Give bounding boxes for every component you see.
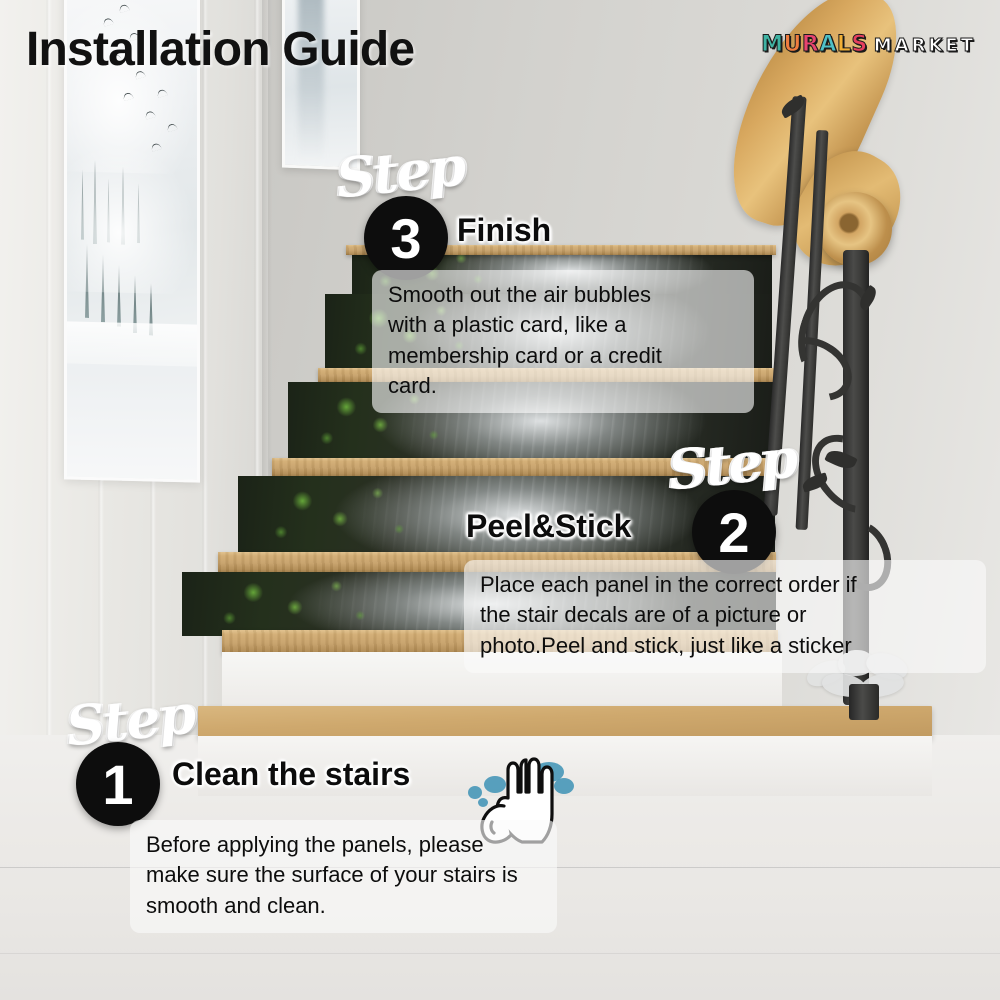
step-3-body: Smooth out the air bubbles with a plasti… [372, 270, 754, 413]
newel-post-foot [849, 684, 879, 720]
brand-logo[interactable]: MURALS MARKET [761, 32, 976, 57]
logo-letter-l: L [837, 32, 852, 57]
step-2-line-1: Place each panel in the correct order if [480, 570, 970, 600]
logo-letter-r: R [802, 32, 819, 57]
step-1-heading: Clean the stairs [172, 756, 410, 793]
step-1-badge: 1 [76, 742, 160, 826]
step-2-line-2: the stair decals are of a picture or [480, 600, 970, 630]
logo-market-word: MARKET [874, 35, 976, 56]
step-3-heading: Finish [457, 212, 551, 249]
stair-tread-bottom [198, 706, 932, 738]
page-title: Installation Guide [26, 22, 414, 77]
logo-murals-word: MURALS [761, 32, 868, 57]
step-3-line-4: card. [388, 371, 738, 401]
logo-letter-m: M [761, 32, 783, 57]
step-1-line-1: Before applying the panels, [146, 832, 413, 857]
installation-guide-page: Installation Guide MURALS MARKET Step 3 … [0, 0, 1000, 1000]
step-3-badge: 3 [364, 196, 448, 280]
step-1-body: Before applying the panels, please make … [130, 820, 557, 933]
step-3-line-1: Smooth out the air bubbles [388, 280, 738, 310]
logo-letter-s: S [851, 32, 867, 57]
logo-letter-u: U [784, 32, 802, 57]
step-2-line-3: photo.Peel and stick, just like a sticke… [480, 631, 970, 661]
step-3-line-2: with a plastic card, like a [388, 310, 738, 340]
step-2-heading: Peel&Stick [466, 508, 631, 545]
logo-letter-a: A [819, 32, 837, 57]
step-3-line-3: membership card or a credit [388, 341, 738, 371]
step-2-body: Place each panel in the correct order if… [464, 560, 986, 673]
